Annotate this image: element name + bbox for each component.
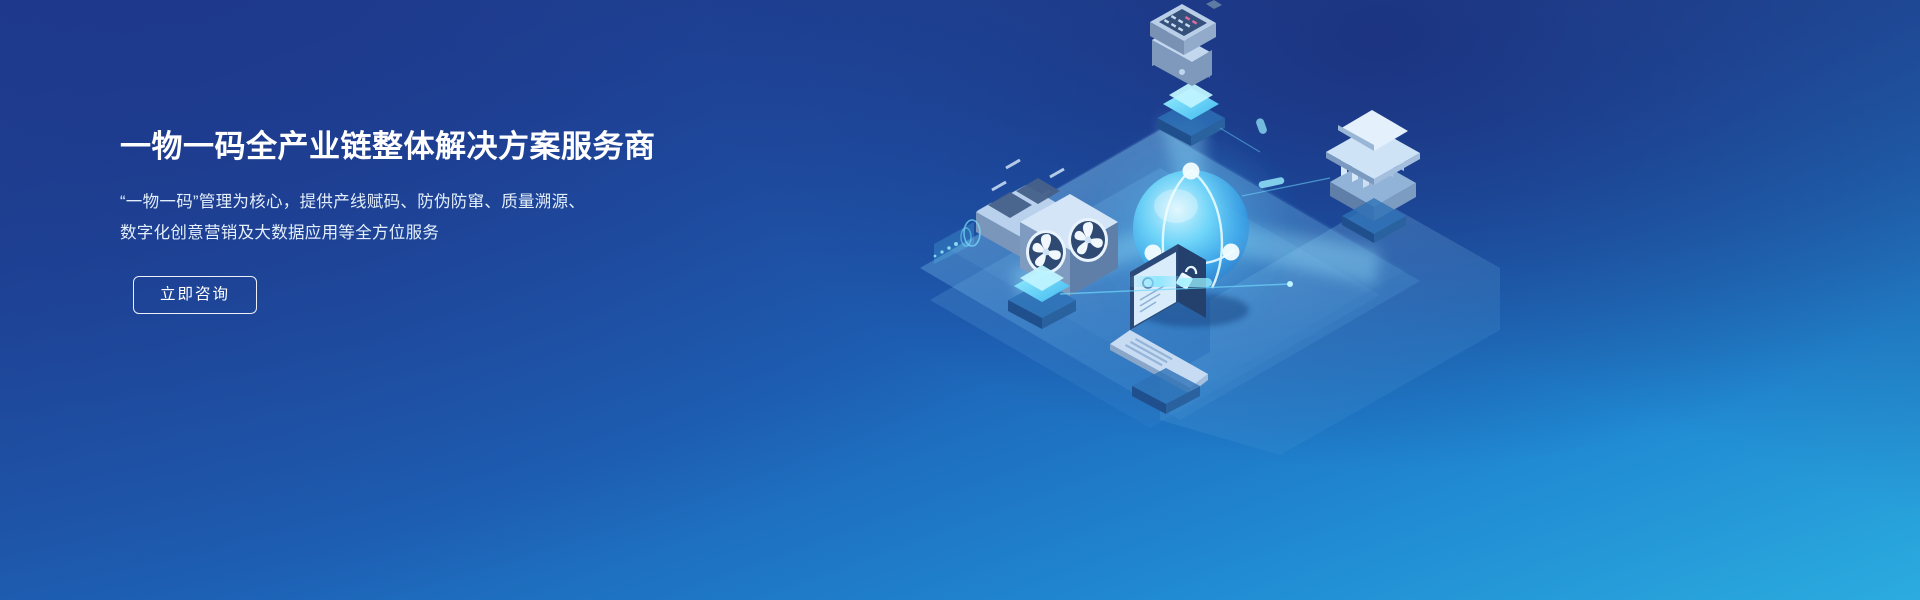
hero-subtitle: “一物一码”管理为核心，提供产线赋码、防伪防窜、质量溯源、 数字化创意营销及大数… xyxy=(120,187,740,249)
page-title: 一物一码全产业链整体解决方案服务商 xyxy=(120,128,740,165)
consult-now-button[interactable]: 立即咨询 xyxy=(133,276,257,314)
hero-banner: 一物一码全产业链整体解决方案服务商 “一物一码”管理为核心，提供产线赋码、防伪防… xyxy=(0,0,1920,600)
hero-copy-block: 一物一码全产业链整体解决方案服务商 “一物一码”管理为核心，提供产线赋码、防伪防… xyxy=(120,128,740,314)
subtitle-line-1: “一物一码”管理为核心，提供产线赋码、防伪防窜、质量溯源、 xyxy=(120,187,740,218)
isometric-illustration xyxy=(860,0,1560,600)
pos-terminal-icon xyxy=(1150,0,1222,86)
subtitle-line-2: 数字化创意营销及大数据应用等全方位服务 xyxy=(120,218,740,249)
